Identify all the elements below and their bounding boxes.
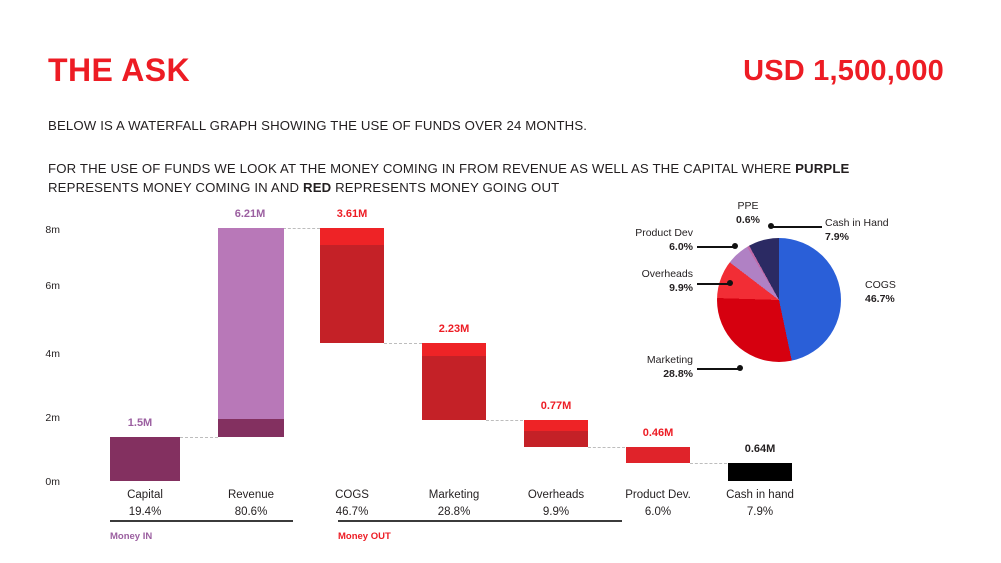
connector-revenue-cogs <box>283 228 320 229</box>
pie-label-cash-in-hand-pct: 7.9% <box>825 230 889 244</box>
page-title: THE ASK <box>48 52 190 89</box>
bar-value-product-dev: 0.46M <box>618 427 698 439</box>
pie-label-cogs-pct: 46.7% <box>865 292 896 306</box>
pie-label-marketing-pct: 28.8% <box>620 367 693 381</box>
bar-value-cogs: 3.61M <box>312 208 392 220</box>
pie-label-product-dev-pct: 6.0% <box>625 240 693 254</box>
bar-revenue[interactable] <box>218 228 284 437</box>
pie-label-product-dev: Product Dev 6.0% <box>625 226 693 254</box>
pie-label-overheads-name: Overheads <box>642 268 693 280</box>
pie-label-cogs-name: COGS <box>865 279 896 291</box>
pie-label-cash-in-hand: Cash in Hand 7.9% <box>825 216 889 244</box>
leader-dot-marketing <box>737 365 743 371</box>
connector-productdev-cash <box>690 463 727 464</box>
category-capital-name: Capital <box>127 489 163 501</box>
category-product-dev: Product Dev. 6.0% <box>613 487 703 520</box>
leader-marketing <box>697 368 739 370</box>
category-cogs-name: COGS <box>335 489 369 501</box>
bar-overheads[interactable] <box>524 420 588 447</box>
waterfall-chart: 8m 6m 4m 2m 0m 1.5M 6.21M 3.61M 2.23M <box>0 195 640 563</box>
intro-line-1: BELOW IS A WATERFALL GRAPH SHOWING THE U… <box>48 118 587 133</box>
pie-label-marketing-name: Marketing <box>647 354 693 366</box>
leader-dot-product-dev <box>732 243 738 249</box>
bar-revenue-body <box>218 228 284 437</box>
bar-capital[interactable] <box>110 437 180 481</box>
category-product-dev-name: Product Dev. <box>625 489 691 501</box>
pie-label-product-dev-name: Product Dev <box>635 227 693 239</box>
pie-label-cogs: COGS 46.7% <box>865 278 896 306</box>
category-overheads-name: Overheads <box>528 489 584 501</box>
slide-root: THE ASK USD 1,500,000 BELOW IS A WATERFA… <box>0 0 1001 563</box>
category-cash-in-hand-name: Cash in hand <box>726 489 794 501</box>
category-overheads-pct: 9.9% <box>516 504 596 521</box>
category-marketing: Marketing 28.8% <box>414 487 494 520</box>
bar-product-dev[interactable] <box>626 447 690 463</box>
y-tick-6m: 6m <box>14 280 60 292</box>
bar-cogs-cap <box>320 228 384 245</box>
y-tick-0m: 0m <box>14 476 60 488</box>
leader-cash-in-hand <box>772 226 822 228</box>
ask-amount: USD 1,500,000 <box>743 55 944 88</box>
category-revenue: Revenue 80.6% <box>211 487 291 520</box>
category-cogs-pct: 46.7% <box>312 504 392 521</box>
bar-marketing-cap <box>422 343 486 356</box>
bar-value-revenue: 6.21M <box>210 208 290 220</box>
intro-line-3: REPRESENTS MONEY COMING IN AND RED REPRE… <box>48 180 559 195</box>
intro-line-3-text-b: REPRESENTS MONEY GOING OUT <box>331 180 559 195</box>
connector-marketing-overheads <box>486 420 523 421</box>
pie-slices[interactable] <box>717 238 841 362</box>
pie-label-marketing: Marketing 28.8% <box>620 353 693 381</box>
keyword-red: RED <box>303 180 331 195</box>
category-product-dev-pct: 6.0% <box>613 504 703 521</box>
pie-chart: COGS 46.7% Cash in Hand 7.9% PPE 0.6% Pr… <box>620 195 1001 420</box>
bar-cash-in-hand[interactable] <box>728 463 792 481</box>
keyword-purple: PURPLE <box>795 161 849 176</box>
money-out-label: Money OUT <box>338 531 391 542</box>
bar-revenue-base <box>218 419 284 437</box>
pie-label-ppe-pct: 0.6% <box>718 213 778 227</box>
bar-overheads-cap <box>524 420 588 431</box>
bar-value-capital: 1.5M <box>100 417 180 429</box>
connector-capital-revenue <box>180 437 218 438</box>
connector-cogs-marketing <box>384 343 422 344</box>
bar-marketing[interactable] <box>422 343 486 420</box>
money-out-rule <box>338 520 622 522</box>
y-tick-8m: 8m <box>14 224 60 236</box>
connector-overheads-productdev <box>588 447 625 448</box>
leader-product-dev <box>697 246 735 248</box>
category-cash-in-hand-pct: 7.9% <box>715 504 805 521</box>
intro-line-2: FOR THE USE OF FUNDS WE LOOK AT THE MONE… <box>48 161 850 176</box>
category-capital-pct: 19.4% <box>105 504 185 521</box>
pie-label-overheads-pct: 9.9% <box>620 281 693 295</box>
category-marketing-name: Marketing <box>429 489 480 501</box>
category-revenue-name: Revenue <box>228 489 274 501</box>
category-cash-in-hand: Cash in hand 7.9% <box>715 487 805 520</box>
money-in-rule <box>110 520 293 522</box>
leader-overheads <box>697 283 730 285</box>
bar-cogs[interactable] <box>320 228 384 343</box>
category-capital: Capital 19.4% <box>105 487 185 520</box>
bar-cogs-body <box>320 228 384 343</box>
leader-dot-overheads <box>727 280 733 286</box>
intro-line-2-text: FOR THE USE OF FUNDS WE LOOK AT THE MONE… <box>48 161 795 176</box>
category-revenue-pct: 80.6% <box>211 504 291 521</box>
pie-label-cash-in-hand-name: Cash in Hand <box>825 217 889 229</box>
category-marketing-pct: 28.8% <box>414 504 494 521</box>
pie-label-ppe-name: PPE <box>737 200 758 212</box>
y-tick-4m: 4m <box>14 348 60 360</box>
y-tick-2m: 2m <box>14 412 60 424</box>
bar-value-overheads: 0.77M <box>516 400 596 412</box>
pie-label-ppe: PPE 0.6% <box>718 199 778 227</box>
bar-value-cash-in-hand: 0.64M <box>720 443 800 455</box>
money-in-label: Money IN <box>110 531 152 542</box>
category-overheads: Overheads 9.9% <box>516 487 596 520</box>
pie-label-overheads: Overheads 9.9% <box>620 267 693 295</box>
intro-line-3-text-a: REPRESENTS MONEY COMING IN AND <box>48 180 303 195</box>
bar-value-marketing: 2.23M <box>414 323 494 335</box>
category-cogs: COGS 46.7% <box>312 487 392 520</box>
